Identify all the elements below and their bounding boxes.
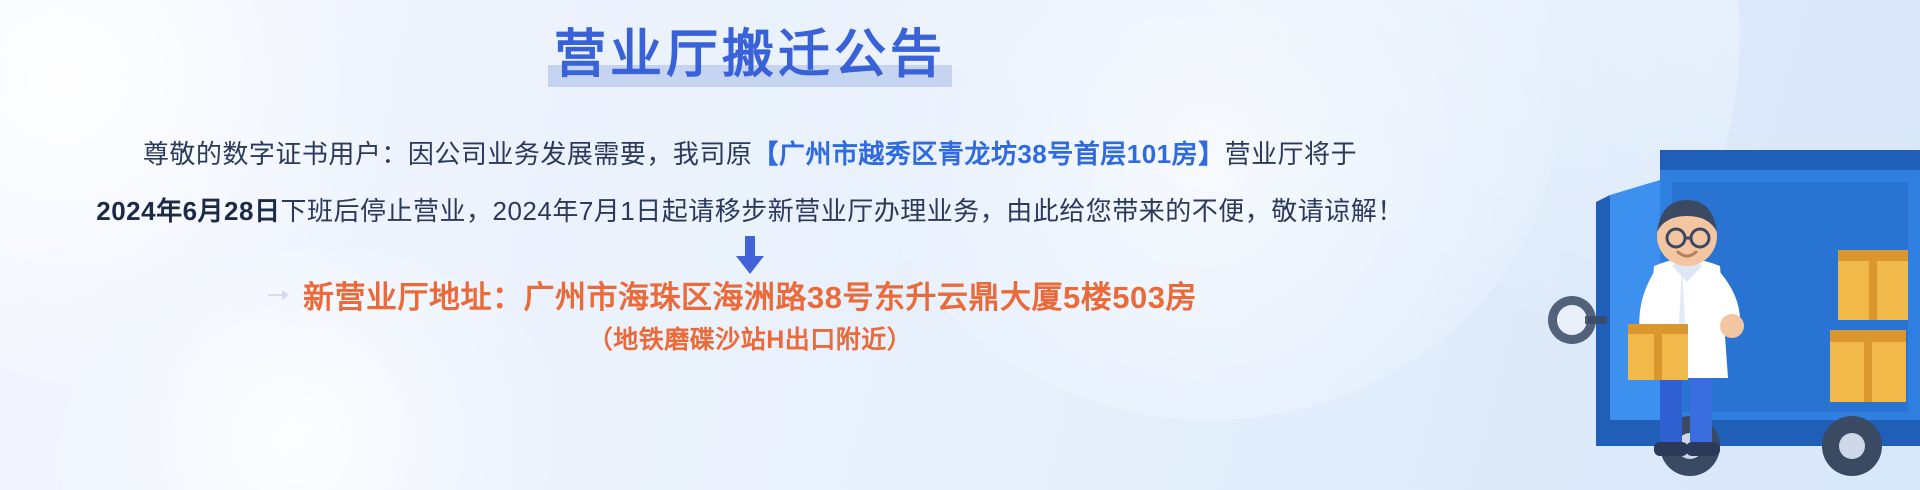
arrow-down-container <box>0 236 1500 276</box>
body-line-2: 2024年6月28日下班后停止营业，2024年7月1日起请移步新营业厅办理业务，… <box>0 191 1500 228</box>
body-line-1-part-2: 营业厅将于 <box>1225 139 1358 169</box>
old-address-highlight: 【广州市越秀区青龙坊38号首层101房】 <box>752 139 1224 169</box>
closing-date-emphasis: 2024年6月28日 <box>96 196 280 226</box>
new-address-line: 新营业厅地址：广州市海珠区海洲路38号东升云鼎大厦5楼503房 <box>0 272 1500 317</box>
page-title: 营业厅搬迁公告 <box>548 28 952 83</box>
body-line-2-rest: 下班后停止营业，2024年7月1日起请移步新营业厅办理业务，由此给您带来的不便，… <box>280 196 1403 226</box>
banner-content: 营业厅搬迁公告 尊敬的数字证书用户：因公司业务发展需要，我司原【广州市越秀区青龙… <box>0 0 1920 490</box>
title-container: 营业厅搬迁公告 <box>0 28 1500 83</box>
title-text: 营业厅搬迁公告 <box>554 26 946 84</box>
store-relocation-announcement-banner: 营业厅搬迁公告 尊敬的数字证书用户：因公司业务发展需要，我司原【广州市越秀区青龙… <box>0 0 1920 490</box>
body-line-1: 尊敬的数字证书用户：因公司业务发展需要，我司原【广州市越秀区青龙坊38号首层10… <box>0 134 1500 171</box>
new-address-subway-note: （地铁磨碟沙站H出口附近） <box>0 320 1500 356</box>
arrow-down-icon <box>733 236 767 276</box>
body-line-1-part-1: 尊敬的数字证书用户：因公司业务发展需要，我司原 <box>143 139 753 169</box>
